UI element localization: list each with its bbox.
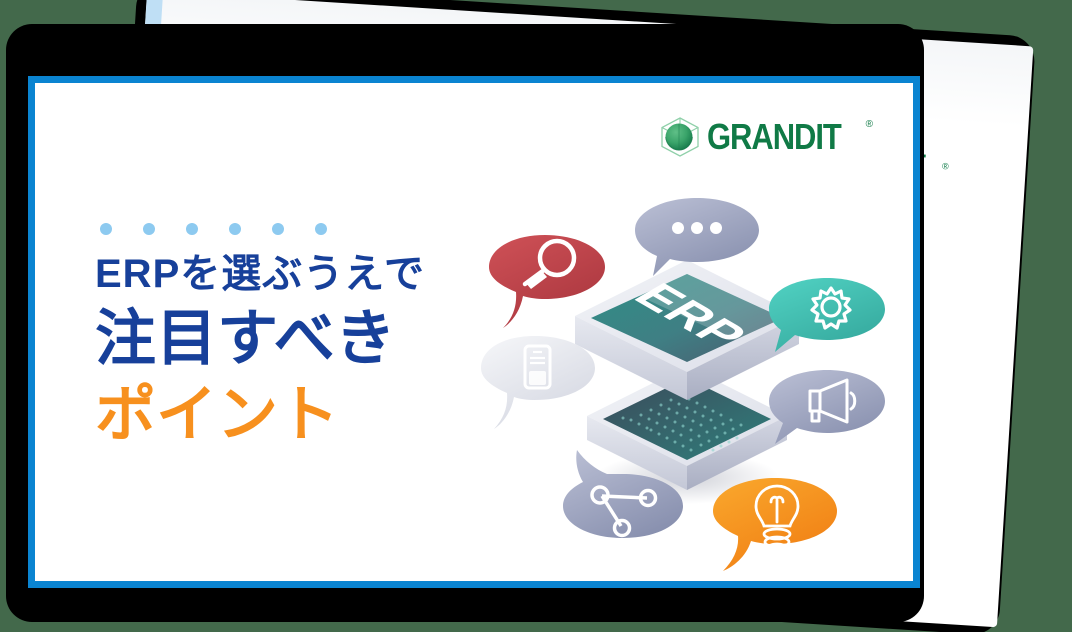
grandit-cube-icon	[658, 115, 702, 159]
grandit-wordmark: GRANDIT	[707, 119, 841, 155]
bubble-mobile	[481, 336, 595, 429]
erp-chip-top: ERP	[575, 260, 799, 400]
slide-mockup-stage: GRANDIT ® 2	[0, 0, 1072, 632]
decorative-dot	[100, 223, 112, 235]
bubble-settings	[769, 278, 885, 352]
bubble-idea	[713, 478, 837, 571]
decorative-dot	[186, 223, 198, 235]
headline-line-3: ポイント	[95, 379, 525, 451]
decorative-dot	[229, 223, 241, 235]
back-page-registered-mark: ®	[942, 160, 949, 170]
bubble-ellipsis	[635, 198, 759, 276]
bubble-megaphone	[769, 370, 885, 444]
headline-line-1: ERPを選ぶうえで	[95, 251, 525, 297]
decorative-dot	[143, 223, 155, 235]
page-title: ERPを選ぶうえで 注目すべき ポイント	[95, 251, 525, 451]
front-page: GRANDIT ® ERPを選ぶうえで 注目すべき ポイント	[28, 76, 920, 588]
grandit-registered-mark: ®	[866, 119, 873, 130]
erp-illustration: ERP	[475, 178, 895, 578]
grandit-logo: GRANDIT ®	[658, 115, 873, 159]
decorative-dot-row	[100, 223, 327, 235]
decorative-dot	[272, 223, 284, 235]
decorative-dot	[315, 223, 327, 235]
headline-line-2: 注目すべき	[95, 303, 525, 375]
